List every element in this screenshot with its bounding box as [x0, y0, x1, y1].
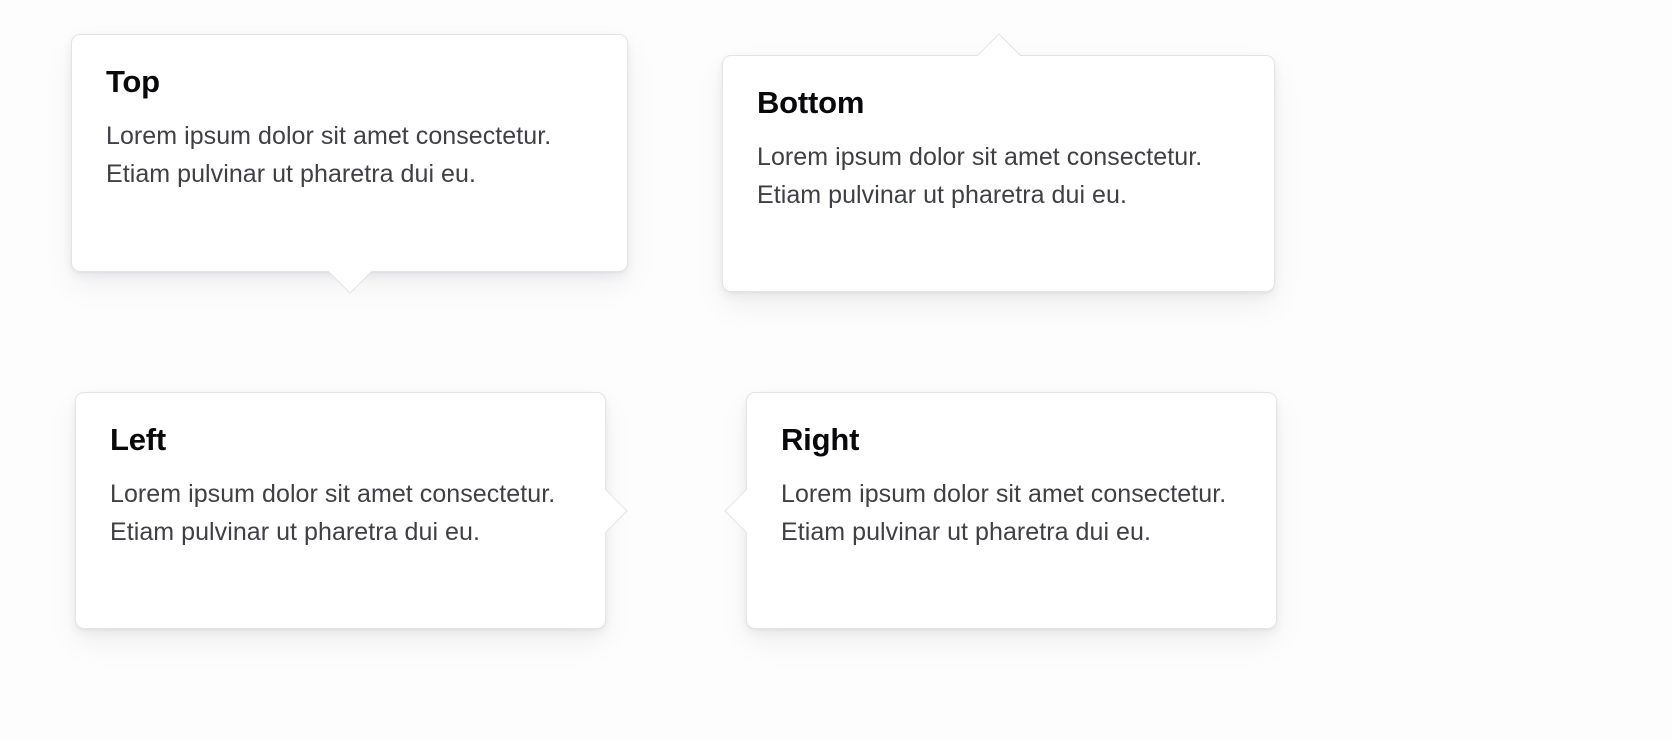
popover-top-content: Top Lorem ipsum dolor sit amet consectet… [72, 35, 627, 223]
popover-top-title: Top [106, 65, 593, 100]
popover-right-body: Lorem ipsum dolor sit amet consectetur. … [781, 475, 1242, 551]
popover-right[interactable]: Right Lorem ipsum dolor sit amet consect… [746, 392, 1277, 629]
arrow-right-icon [604, 488, 630, 534]
popover-left[interactable]: Left Lorem ipsum dolor sit amet consecte… [75, 392, 606, 629]
arrow-up-icon [976, 31, 1022, 57]
popover-right-title: Right [781, 423, 1242, 458]
popover-left-body: Lorem ipsum dolor sit amet consectetur. … [110, 475, 571, 551]
popover-top[interactable]: Top Lorem ipsum dolor sit amet consectet… [71, 34, 628, 272]
popover-bottom-title: Bottom [757, 86, 1240, 121]
arrow-left-icon [722, 488, 748, 534]
popover-bottom-content: Bottom Lorem ipsum dolor sit amet consec… [723, 56, 1274, 244]
popover-bottom[interactable]: Bottom Lorem ipsum dolor sit amet consec… [722, 55, 1275, 292]
popover-left-content: Left Lorem ipsum dolor sit amet consecte… [76, 393, 605, 581]
popover-top-body: Lorem ipsum dolor sit amet consectetur. … [106, 117, 593, 193]
popover-stage: Top Lorem ipsum dolor sit amet consectet… [0, 0, 1672, 740]
arrow-down-icon [327, 270, 373, 296]
popover-right-content: Right Lorem ipsum dolor sit amet consect… [747, 393, 1276, 581]
popover-left-title: Left [110, 423, 571, 458]
popover-bottom-body: Lorem ipsum dolor sit amet consectetur. … [757, 138, 1240, 214]
